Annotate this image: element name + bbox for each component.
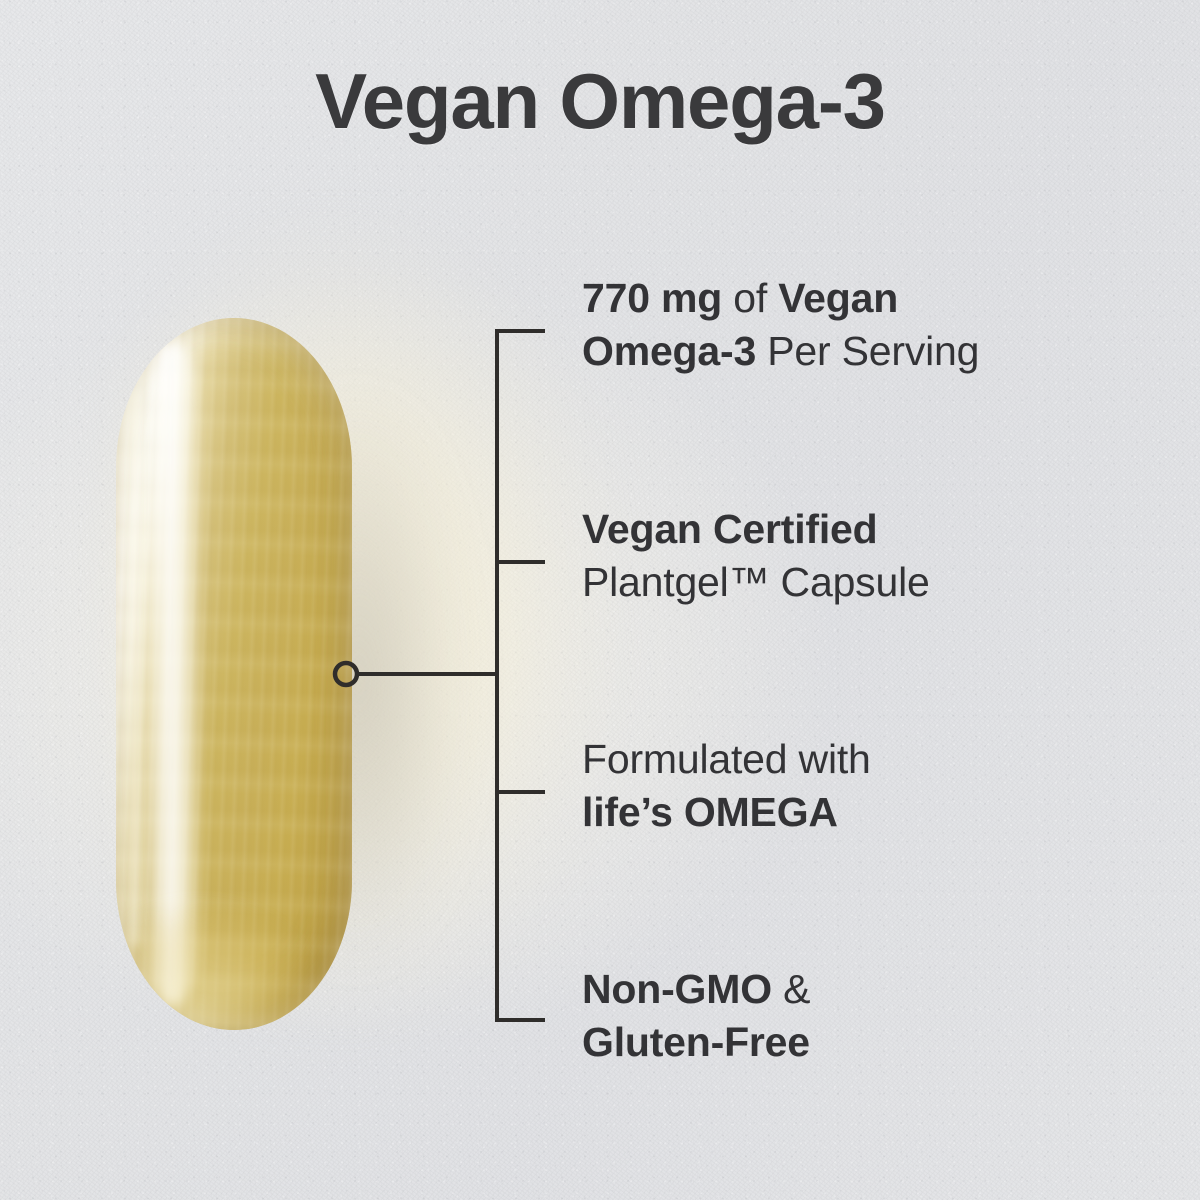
callout-text-bold: Vegan: [778, 275, 898, 321]
callout-text-bold: Omega-3: [582, 328, 767, 374]
callout-text-regular: Formulated with: [582, 736, 871, 782]
callout-line: Omega-3 Per Serving: [582, 325, 1142, 378]
callout-text-bold: Non-GMO: [582, 966, 783, 1012]
callout-text-bold: Gluten-Free: [582, 1019, 810, 1065]
callout-text-regular: &: [783, 966, 810, 1012]
callout-line: Vegan Certified: [582, 503, 1142, 556]
callout-capsule-type: Vegan Certified Plantgel™ Capsule: [582, 503, 1142, 610]
callout-ingredient: Formulated with life’s OMEGA: [582, 733, 1142, 840]
callout-text-bold: life’s OMEGA: [582, 789, 838, 835]
callout-line: life’s OMEGA: [582, 786, 1142, 839]
callout-line: Plantgel™ Capsule: [582, 556, 1142, 609]
callout-text-regular: of: [733, 275, 778, 321]
callout-certifications: Non-GMO & Gluten-Free: [582, 963, 1142, 1070]
callout-line: 770 mg of Vegan: [582, 272, 1142, 325]
callout-line: Gluten-Free: [582, 1016, 1142, 1069]
callout-text-bold: 770 mg: [582, 275, 733, 321]
callout-line: Non-GMO &: [582, 963, 1142, 1016]
infographic-canvas: Vegan Omega-3 770: [0, 0, 1200, 1200]
callout-line: Formulated with: [582, 733, 1142, 786]
callout-text-regular: Per Serving: [767, 328, 979, 374]
callout-text-bold: Vegan Certified: [582, 506, 877, 552]
callout-dose: 770 mg of Vegan Omega-3 Per Serving: [582, 272, 1142, 379]
callout-text-regular: Plantgel™ Capsule: [582, 559, 930, 605]
callout-list: 770 mg of Vegan Omega-3 Per Serving Vega…: [0, 0, 1200, 1200]
